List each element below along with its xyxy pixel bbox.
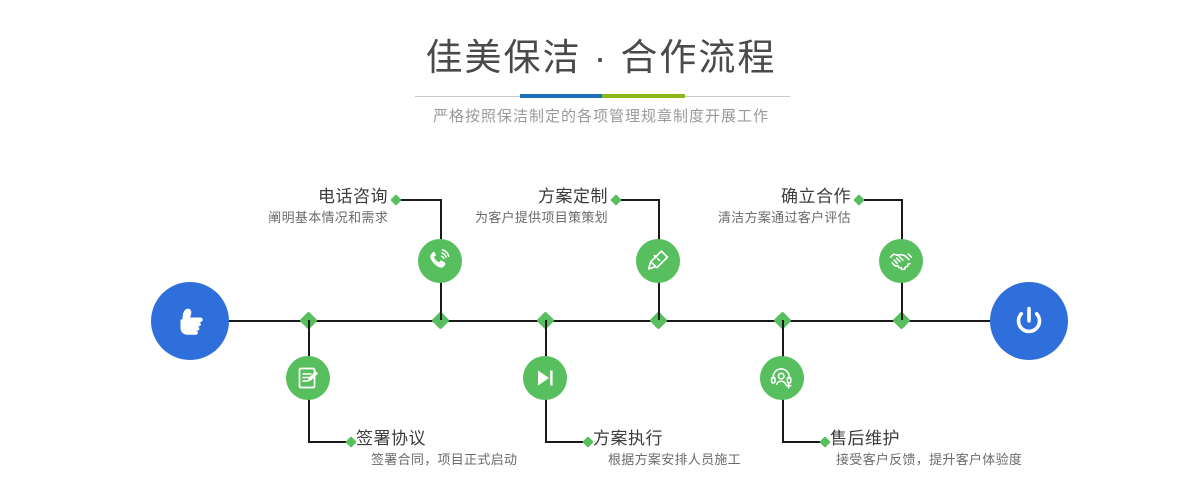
page-subtitle: 严格按照保洁制定的各项管理规章制度开展工作 xyxy=(0,106,1202,128)
title-divider xyxy=(415,94,790,98)
step-icon-3[interactable] xyxy=(636,239,680,283)
step-title: 方案定制 xyxy=(320,186,608,208)
step-desc: 接受客户反馈，提升客户体验度 xyxy=(830,450,1170,470)
flow-end-node xyxy=(990,282,1068,360)
label-marker xyxy=(853,194,864,205)
step-label-5: 确立合作 清洁方案通过客户评估 xyxy=(570,186,851,228)
step-title: 确立合作 xyxy=(570,186,851,208)
divider-accent-green xyxy=(602,94,685,98)
flow-start-node xyxy=(151,282,229,360)
step-icon-2[interactable] xyxy=(286,356,330,400)
hand-point-right-icon xyxy=(168,299,212,343)
step-icon-4[interactable] xyxy=(523,356,567,400)
step-title: 售后维护 xyxy=(830,428,1170,450)
timeline-axis xyxy=(215,320,1005,322)
handshake-icon xyxy=(888,248,914,274)
page-title: 佳美保洁 · 合作流程 xyxy=(0,36,1202,80)
step-icon-6[interactable] xyxy=(760,356,804,400)
headset-support-icon xyxy=(769,365,795,391)
step-icon-5[interactable] xyxy=(879,239,923,283)
step-desc: 为客户提供项目策策划 xyxy=(320,208,608,228)
power-icon xyxy=(1007,299,1051,343)
step-label-6: 售后维护 接受客户反馈，提升客户体验度 xyxy=(830,428,1170,470)
connector-horizontal xyxy=(861,199,903,201)
step-label-3: 方案定制 为客户提供项目策策划 xyxy=(320,186,608,228)
document-edit-icon xyxy=(295,365,321,391)
phone-ringing-icon xyxy=(427,248,453,274)
step-icon-1[interactable] xyxy=(418,239,462,283)
play-forward-icon xyxy=(532,365,558,391)
flow-diagram-canvas: 佳美保洁 · 合作流程 严格按照保洁制定的各项管理规章制度开展工作 xyxy=(0,0,1202,502)
pencil-ruler-icon xyxy=(645,248,671,274)
step-desc: 清洁方案通过客户评估 xyxy=(570,208,851,228)
divider-accent-blue xyxy=(520,94,602,98)
label-marker xyxy=(345,436,356,447)
